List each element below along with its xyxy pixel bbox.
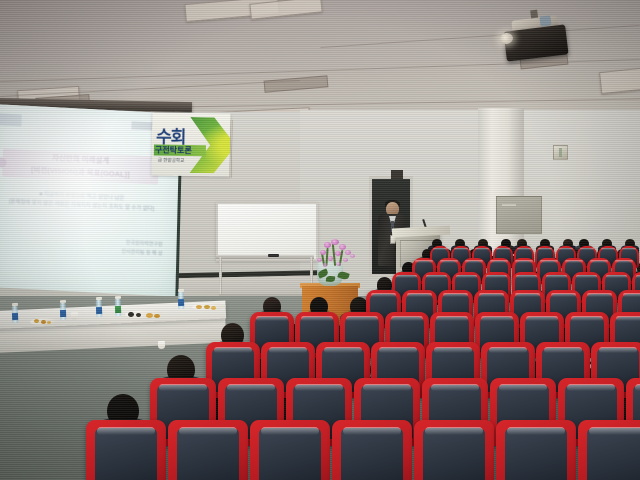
door-sign [391, 170, 403, 179]
seat-highlight [396, 275, 417, 278]
orchid-bloom-1 [324, 242, 331, 248]
water-bottle-3 [96, 300, 103, 317]
seat-highlight [434, 347, 473, 353]
bottle-cap-4 [115, 296, 121, 299]
seat-highlight [475, 248, 489, 250]
paper-cup-1 [71, 312, 78, 320]
whiteboard-marker-icon [268, 254, 279, 257]
seat-highlight [526, 316, 558, 321]
seat-highlight [97, 427, 155, 435]
slide-header-tab [0, 113, 22, 126]
seat-highlight [490, 260, 507, 263]
seat-highlight [295, 384, 343, 391]
whiteboard-leg-left [219, 257, 222, 299]
seat-highlight [346, 316, 378, 321]
seat-highlight [599, 347, 638, 353]
seat-highlight [433, 248, 447, 250]
seat-highlight [580, 248, 594, 250]
seat-backrest-pad [341, 428, 403, 480]
auditorium-seat[interactable] [496, 420, 576, 480]
seat-highlight [407, 293, 432, 297]
bottle-cap-3 [96, 297, 102, 300]
seat-highlight [227, 384, 275, 391]
auditorium-seat[interactable] [332, 420, 412, 480]
seat-highlight [499, 384, 547, 391]
orchid-bloom-2 [331, 239, 339, 245]
seat-highlight [379, 347, 418, 353]
seat-highlight [496, 248, 510, 250]
snack-item-4 [128, 312, 134, 317]
seat-highlight [391, 316, 423, 321]
orchid-bloom-7 [328, 256, 333, 261]
snack-item-9 [204, 305, 210, 309]
seat-highlight [590, 260, 607, 263]
seat-highlight [363, 384, 411, 391]
seat-highlight [587, 293, 612, 297]
seat-backrest-pad [587, 428, 640, 480]
seat-highlight [261, 427, 319, 435]
seat-backrest-pad [259, 428, 321, 480]
snack-item-8 [196, 305, 202, 309]
projector-knob [539, 15, 551, 26]
seat-highlight [606, 275, 627, 278]
seat-highlight [589, 427, 640, 435]
wall-access-panel [496, 196, 542, 234]
orchid-bloom-3 [339, 244, 346, 250]
bottle-cap-2 [60, 300, 66, 303]
auditorium-seat[interactable] [168, 420, 248, 480]
seat-backrest-pad [505, 428, 567, 480]
snack-item-5 [136, 313, 141, 317]
seat-highlight [431, 384, 479, 391]
seat-highlight [454, 248, 468, 250]
seat-highlight [465, 260, 482, 263]
whiteboard-marker-tray [216, 255, 314, 259]
snack-item-3 [47, 321, 51, 324]
seat-highlight [159, 384, 207, 391]
seat-highlight [415, 260, 432, 263]
auditorium-seat[interactable] [578, 420, 640, 480]
seat-highlight [371, 293, 396, 297]
seat-highlight [616, 316, 640, 321]
seat-highlight [456, 275, 477, 278]
slide-attribution: 한국원자력연구원 인사관리팀 정 해 성 [72, 236, 162, 258]
snack-item-6 [146, 313, 153, 318]
seat-highlight [324, 347, 363, 353]
seat-highlight [515, 260, 532, 263]
wall-fixture-icon [553, 145, 568, 160]
seat-highlight [479, 293, 504, 297]
seat-highlight [559, 248, 573, 250]
orchid-bloom-5 [320, 250, 326, 255]
seat-highlight [440, 260, 457, 263]
seat-highlight [425, 427, 483, 435]
seat-highlight [426, 275, 447, 278]
seat-highlight [489, 347, 528, 353]
seat-highlight [516, 275, 537, 278]
seat-highlight [269, 347, 308, 353]
snack-item-7 [154, 314, 160, 318]
seat-highlight [256, 316, 288, 321]
water-bottle-1 [12, 306, 19, 323]
seat-backrest-pad [95, 428, 157, 480]
seat-highlight [179, 427, 237, 435]
seat-highlight [436, 316, 468, 321]
banner-subtext: 급 한밭공학교 [158, 158, 185, 164]
orchid-bloom-12 [323, 263, 327, 267]
whiteboard [216, 202, 318, 261]
snack-item-10 [211, 306, 216, 310]
water-bottle-2 [60, 303, 67, 320]
water-bottle-4 [115, 299, 122, 316]
seat-highlight [567, 384, 615, 391]
seat-highlight [214, 347, 253, 353]
seat-highlight [601, 248, 615, 250]
seat-highlight [507, 427, 565, 435]
seat-highlight [576, 275, 597, 278]
seat-highlight [565, 260, 582, 263]
seat-highlight [571, 316, 603, 321]
seat-highlight [301, 316, 333, 321]
seat-highlight [544, 347, 583, 353]
wall-banner: 수회 구전탁토론 급 한밭공학교 [152, 112, 231, 176]
seat-highlight [486, 275, 507, 278]
seat-highlight [551, 293, 576, 297]
orchid-bloom-6 [335, 251, 341, 256]
orchid-bloom-11 [336, 262, 341, 266]
seat-highlight [343, 427, 401, 435]
orchid-bloom-10 [350, 254, 355, 258]
seat-highlight [481, 316, 513, 321]
water-bottle-5 [178, 292, 185, 309]
snack-item-2 [41, 320, 46, 324]
orchid-bloom-8 [343, 258, 348, 262]
seat-highlight [515, 293, 540, 297]
paper-cup-2 [158, 341, 165, 349]
seat-backrest-pad [423, 428, 485, 480]
auditorium-photo: 자신만의 미래설계 [비전(VISION)과 목표(GOAL)] ■ 지금까지 … [0, 0, 640, 480]
auditorium-seat[interactable] [86, 420, 166, 480]
bottle-cap-5 [178, 289, 184, 292]
seat-highlight [615, 260, 632, 263]
bottle-cap-1 [12, 303, 18, 306]
seat-highlight [540, 260, 557, 263]
seat-highlight [546, 275, 567, 278]
seat-highlight [635, 384, 640, 391]
seat-highlight [622, 248, 636, 250]
snack-item-1 [34, 319, 39, 323]
seat-highlight [538, 248, 552, 250]
banner-bar-text: 구전탁토론 [155, 144, 207, 156]
seat-highlight [636, 275, 640, 278]
slide-body: ■ 지금까지 무엇으로 먹고 살았나 남은 [문제점에 맞지 않은 사람은 지워… [0, 188, 166, 215]
seat-backrest-pad [177, 428, 239, 480]
seat-highlight [443, 293, 468, 297]
seat-highlight [517, 248, 531, 250]
auditorium-seat[interactable] [250, 420, 330, 480]
seat-highlight [623, 293, 640, 297]
orchid-bloom-9 [317, 258, 322, 262]
auditorium-seat[interactable] [414, 420, 494, 480]
